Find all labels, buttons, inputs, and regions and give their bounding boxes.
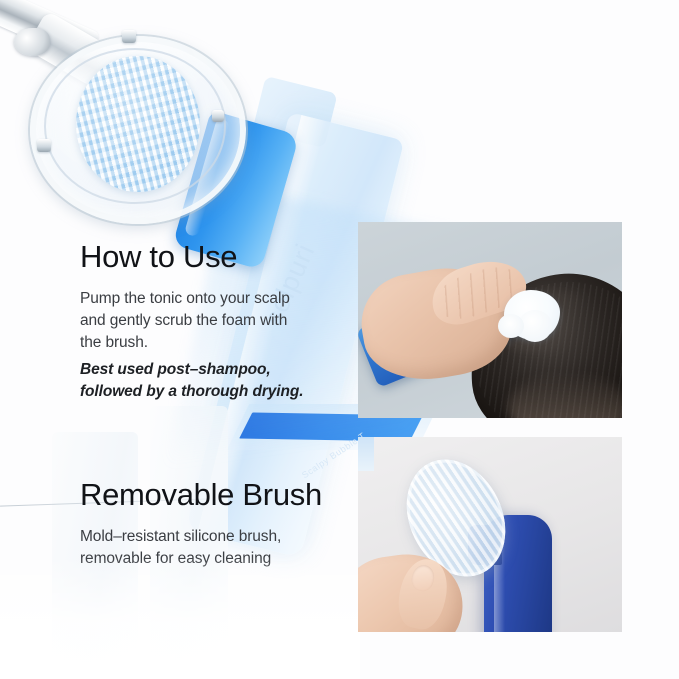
brush-disc <box>76 56 200 192</box>
ring-clip-left <box>37 139 51 152</box>
emphasis-line: followed by a thorough drying. <box>80 381 370 403</box>
body-line: Pump the tonic onto your scalp <box>80 288 370 310</box>
section-heading: Removable Brush <box>80 478 380 512</box>
section-heading: How to Use <box>80 240 370 274</box>
section-how-to-use: How to Use Pump the tonic onto your scal… <box>80 240 370 403</box>
emphasis-line: Best used post–shampoo, <box>80 359 370 381</box>
chrome-clamp <box>14 28 50 56</box>
photo-removable-brush <box>358 437 622 632</box>
ring-clip-right <box>212 110 224 122</box>
photo-corner-accent <box>358 437 374 471</box>
hero-brush-closeup <box>0 0 274 244</box>
brush-bristles-cross <box>76 56 200 192</box>
bottom-fade-overlay <box>0 556 360 679</box>
body-line: and gently scrub the foam with <box>80 310 370 332</box>
foam-blob-tertiary <box>498 314 524 338</box>
photo-applying-foam <box>358 222 622 418</box>
body-line: the brush. <box>80 332 370 354</box>
ring-clip-top <box>122 30 136 43</box>
body-line: Mold–resistant silicone brush, <box>80 526 380 548</box>
product-infographic: selpuri Scalpy Bubble T How to Use Pump … <box>0 0 679 679</box>
